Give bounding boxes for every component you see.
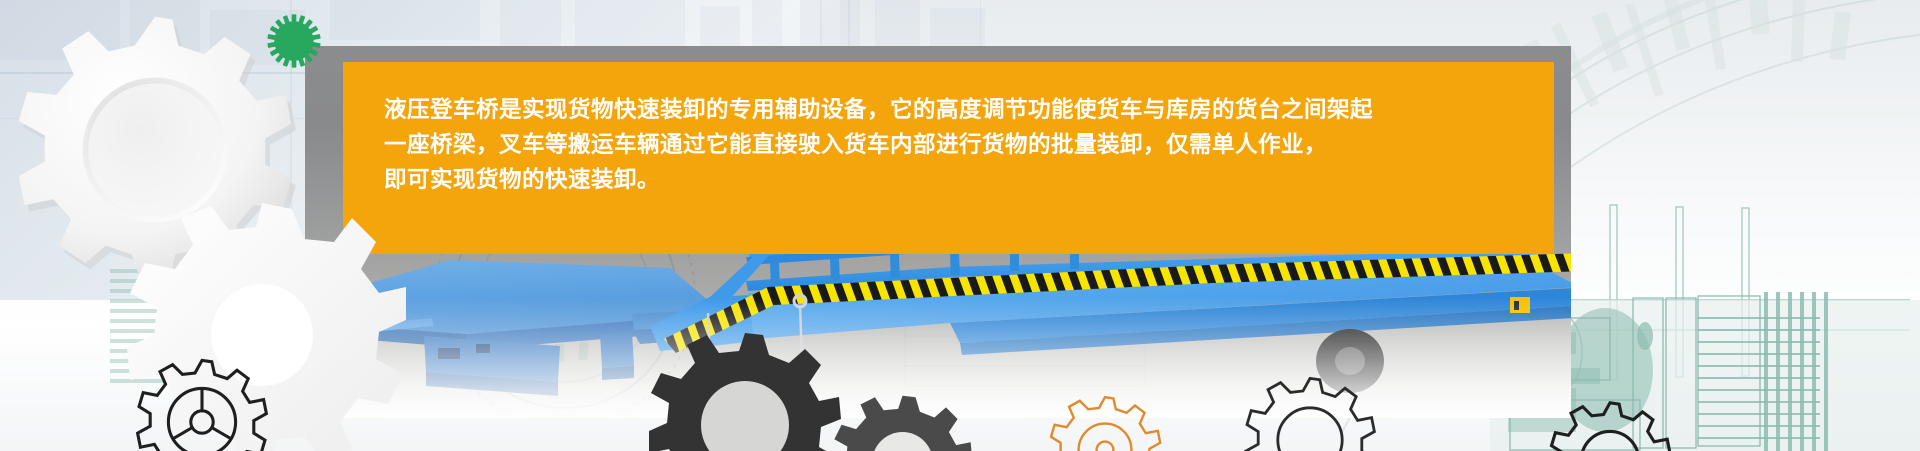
gear-dark-outline bbox=[132, 352, 272, 451]
gear-orange-outline bbox=[1045, 390, 1165, 451]
gear-dark-center bbox=[645, 325, 845, 451]
gear-outline-far-right bbox=[1545, 395, 1675, 451]
headline-orange-box: 液压登车桥是实现货物快速装卸的专用辅助设备，它的高度调节功能使货车与库房的货台之… bbox=[343, 62, 1554, 254]
banner-stage: 液压登车桥是实现货物快速装卸的专用辅助设备，它的高度调节功能使货车与库房的货台之… bbox=[0, 0, 1920, 451]
headline-text: 液压登车桥是实现货物快速装卸的专用辅助设备，它的高度调节功能使货车与库房的货台之… bbox=[384, 93, 1534, 198]
gear-outline-right bbox=[1240, 370, 1380, 451]
gear-green-small bbox=[265, 12, 323, 70]
gear-dark-secondary bbox=[830, 390, 975, 451]
